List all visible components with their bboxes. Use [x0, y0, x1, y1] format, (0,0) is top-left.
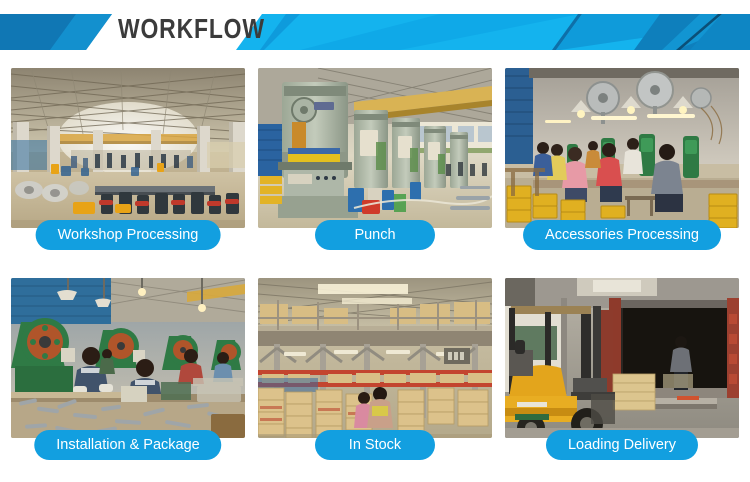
page-title: WORKFLOW — [118, 13, 265, 45]
workflow-grid: Workshop Processing — [0, 58, 750, 482]
installation-packaging-bench-photo — [11, 278, 245, 438]
banner-graphic — [0, 0, 750, 58]
card-label-pill[interactable]: Workshop Processing — [36, 220, 221, 250]
card-label-pill[interactable]: Accessories Processing — [523, 220, 721, 250]
workflow-card-installation-package[interactable]: Installation & Package — [11, 278, 245, 460]
card-label-pill[interactable]: Punch — [315, 220, 435, 250]
workflow-card-workshop-processing[interactable]: Workshop Processing — [11, 68, 245, 250]
punch-press-machine-row-photo — [258, 68, 492, 228]
workflow-card-in-stock[interactable]: In Stock — [258, 278, 492, 460]
card-label-pill[interactable]: In Stock — [315, 430, 435, 460]
workflow-card-punch[interactable]: Punch — [258, 68, 492, 250]
workflow-banner: WORKFLOW — [0, 0, 750, 58]
factory-workshop-wide-interior-photo — [11, 68, 245, 228]
workflow-card-loading-delivery[interactable]: Loading Delivery — [505, 278, 739, 460]
accessories-assembly-workers-photo — [505, 68, 739, 228]
card-label-pill[interactable]: Loading Delivery — [546, 430, 698, 460]
workflow-page: WORKFLOW — [0, 0, 750, 482]
warehouse-stock-storage-photo — [258, 278, 492, 438]
workflow-card-accessories-processing[interactable]: Accessories Processing — [505, 68, 739, 250]
forklift-loading-container-truck-photo — [505, 278, 739, 438]
card-label-pill[interactable]: Installation & Package — [34, 430, 221, 460]
